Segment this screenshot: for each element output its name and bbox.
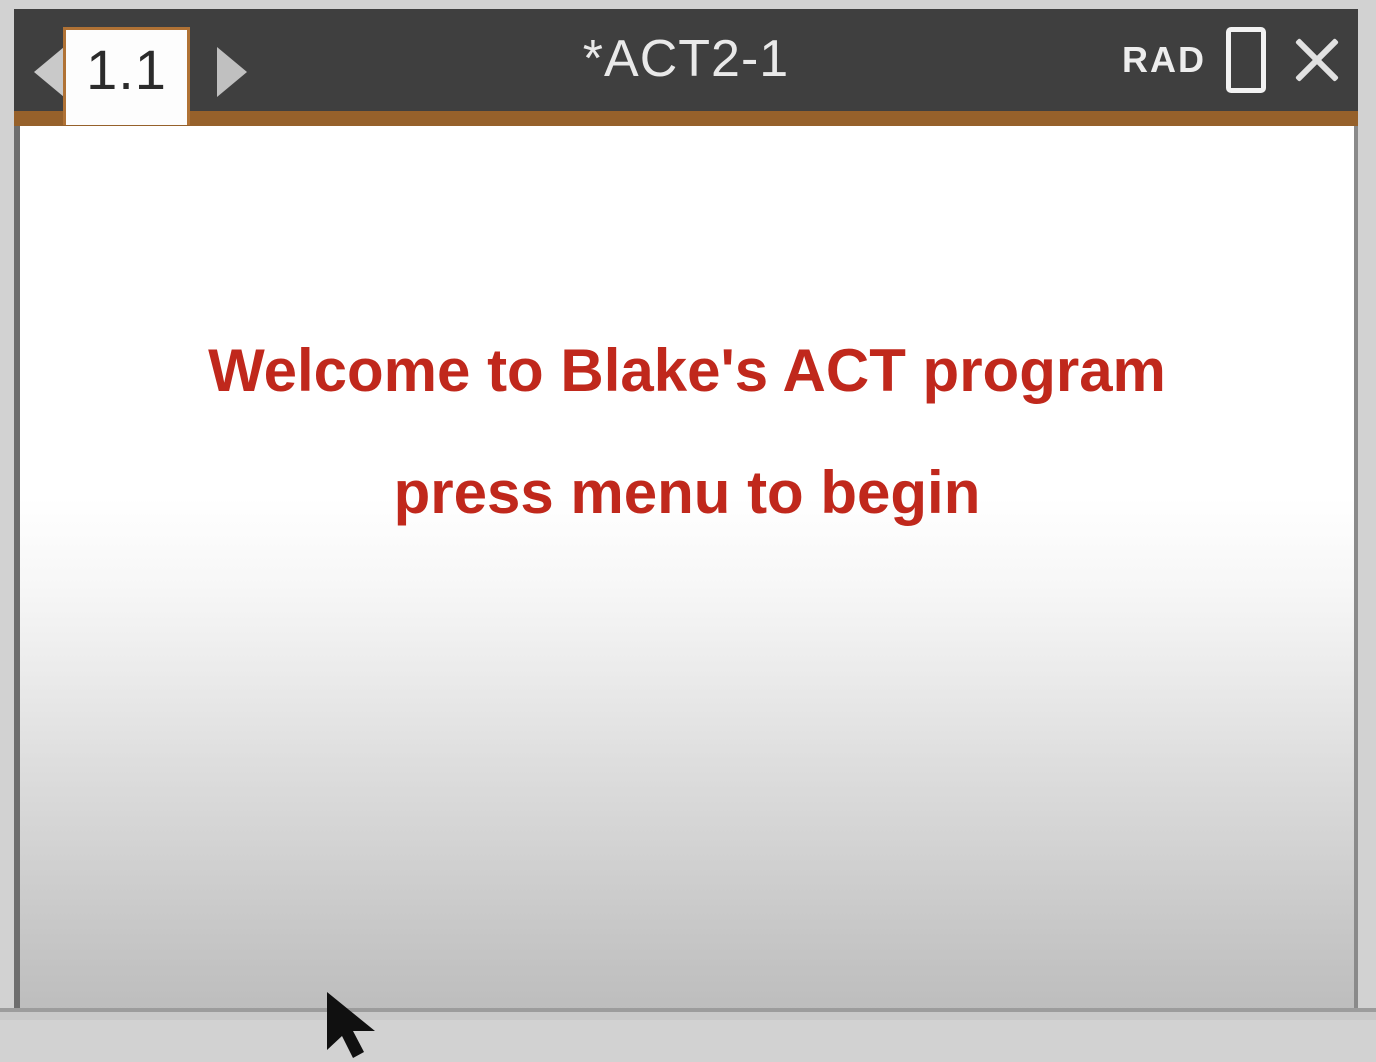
work-area[interactable]: Welcome to Blake's ACT program press men… bbox=[14, 126, 1358, 1010]
title-bar: *ACT2-1 RAD bbox=[14, 9, 1358, 111]
welcome-message-line-1: Welcome to Blake's ACT program bbox=[20, 341, 1354, 401]
accent-bar bbox=[14, 111, 1358, 126]
welcome-message-line-2: press menu to begin bbox=[20, 463, 1354, 523]
page-tab-1-1[interactable]: 1.1 bbox=[63, 27, 190, 125]
status-cluster: RAD bbox=[1122, 9, 1348, 111]
frame-bottom-fill bbox=[0, 1012, 1376, 1020]
angle-mode-indicator: RAD bbox=[1122, 39, 1206, 81]
calculator-screen: *ACT2-1 RAD 1.1 Welcome to Blake's ACT p… bbox=[0, 0, 1376, 1020]
close-x-icon[interactable] bbox=[1286, 29, 1348, 91]
battery-icon[interactable] bbox=[1226, 27, 1266, 93]
welcome-message: Welcome to Blake's ACT program press men… bbox=[20, 341, 1354, 523]
page-tab-label: 1.1 bbox=[86, 30, 167, 98]
